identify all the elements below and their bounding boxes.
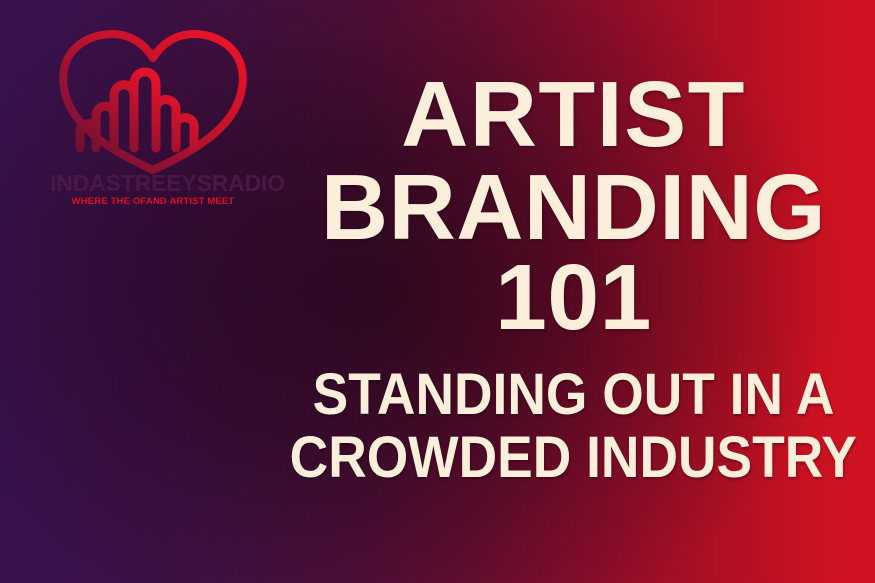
title-line-artist: ARTIST [401,72,746,158]
logo-tagline: WHERE THE OFAND ARTIST MEET [48,196,258,207]
title-line-branding: BRANDING [321,165,826,251]
subtitle-line-2: CROWDED INDUSTRY [290,430,857,487]
station-logo[interactable]: INDASTREEYSRADIO WHERE THE OFAND ARTIST … [48,28,258,218]
poster-canvas: INDASTREEYSRADIO WHERE THE OFAND ARTIST … [0,0,875,583]
logo-wordmark: INDASTREEYSRADIO [50,170,256,197]
title-text-block: ARTIST BRANDING 101 STANDING OUT IN A CR… [272,0,875,583]
heart-waveform-logo-icon [54,28,252,178]
title-line-101: 101 [495,255,652,341]
subtitle-line-1: STANDING OUT IN A [313,367,835,424]
